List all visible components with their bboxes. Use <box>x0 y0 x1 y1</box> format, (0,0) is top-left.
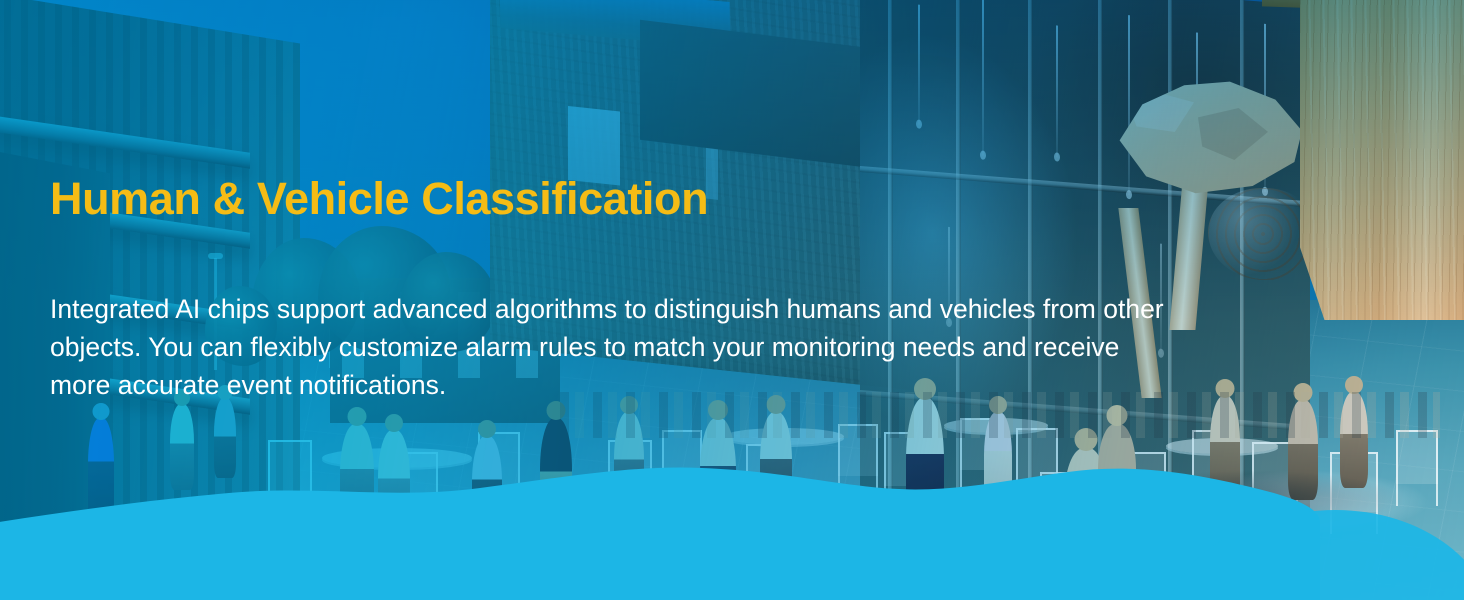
feature-banner: Human & Vehicle Classification Integrate… <box>0 0 1464 600</box>
banner-description: Integrated AI chips support advanced alg… <box>50 224 1170 404</box>
banner-headline: Human & Vehicle Classification <box>50 175 1230 224</box>
banner-content: Human & Vehicle Classification Integrate… <box>50 175 1230 404</box>
